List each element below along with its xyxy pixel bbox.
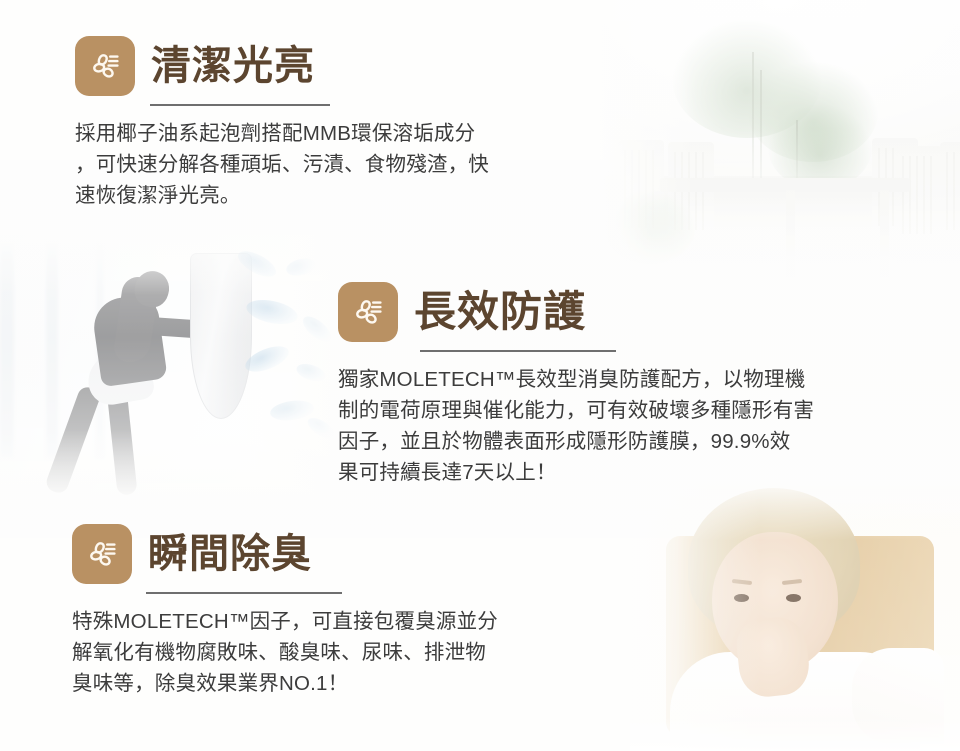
woman-shield-germs-photo (0, 225, 345, 505)
child-holding-nose-photo (630, 480, 960, 751)
feature-header: 長效防護 (338, 282, 918, 342)
feature-description: 獨家MOLETECH™長效型消臭防護配方，以物理機 制的電荷原理與催化能力，可有… (338, 364, 918, 489)
feature-title: 長效防護 (414, 291, 586, 333)
feature-block-long-lasting-protection: 長效防護 獨家MOLETECH™長效型消臭防護配方，以物理機 制的電荷原理與催化… (338, 282, 918, 489)
dining-room-photo (600, 0, 960, 285)
title-divider (146, 592, 342, 594)
feature-description-line: 採用椰子油系起泡劑搭配MMB環保溶垢成分 (75, 118, 595, 149)
feature-description-line: 獨家MOLETECH™長效型消臭防護配方，以物理機 (338, 364, 918, 395)
photo-edge-fade-bottom (600, 205, 960, 285)
fan-airflow-icon (75, 36, 135, 96)
feature-description-line: ，可快速分解各種頑垢、污漬、食物殘渣，快 (75, 149, 595, 180)
feature-description-line: 臭味等，除臭效果業界NO.1！ (72, 668, 612, 699)
feature-description-line: 制的電荷原理與催化能力，可有效破壞多種隱形有害 (338, 395, 918, 426)
feature-header: 清潔光亮 (75, 36, 595, 96)
child-eye (786, 594, 801, 602)
photo-edge-fade-bottom (630, 717, 960, 751)
title-divider (420, 350, 616, 352)
promo-feature-panel: 清潔光亮 採用椰子油系起泡劑搭配MMB環保溶垢成分 ，可快速分解各種頑垢、污漬、… (0, 0, 960, 751)
fan-airflow-icon (72, 524, 132, 584)
feature-description: 特殊MOLETECH™因子，可直接包覆臭源並分 解氧化有機物腐敗味、酸臭味、尿味… (72, 606, 612, 699)
feature-title: 清潔光亮 (151, 46, 315, 86)
fan-airflow-icon (338, 282, 398, 342)
feature-description-line: 特殊MOLETECH™因子，可直接包覆臭源並分 (72, 606, 612, 637)
feature-description-line: 速恢復潔淨光亮。 (75, 180, 595, 211)
photo-edge-fade-left (630, 480, 760, 751)
feature-title: 瞬間除臭 (148, 534, 312, 574)
feature-block-clean-shine: 清潔光亮 採用椰子油系起泡劑搭配MMB環保溶垢成分 ，可快速分解各種頑垢、污漬、… (75, 36, 595, 211)
feature-description: 採用椰子油系起泡劑搭配MMB環保溶垢成分 ，可快速分解各種頑垢、污漬、食物殘渣，… (75, 118, 595, 211)
feature-description-line: 解氧化有機物腐敗味、酸臭味、尿味、排泄物 (72, 637, 612, 668)
feature-header: 瞬間除臭 (72, 524, 612, 584)
feature-block-instant-deodorize: 瞬間除臭 特殊MOLETECH™因子，可直接包覆臭源並分 解氧化有機物腐敗味、酸… (72, 524, 612, 699)
feature-description-line: 因子，並且於物體表面形成隱形防護膜，99.9%效 (338, 426, 918, 457)
feature-description-line: 果可持續長達7天以上！ (338, 457, 918, 488)
photo-edge-fade-right (235, 225, 345, 505)
title-divider (150, 104, 330, 106)
